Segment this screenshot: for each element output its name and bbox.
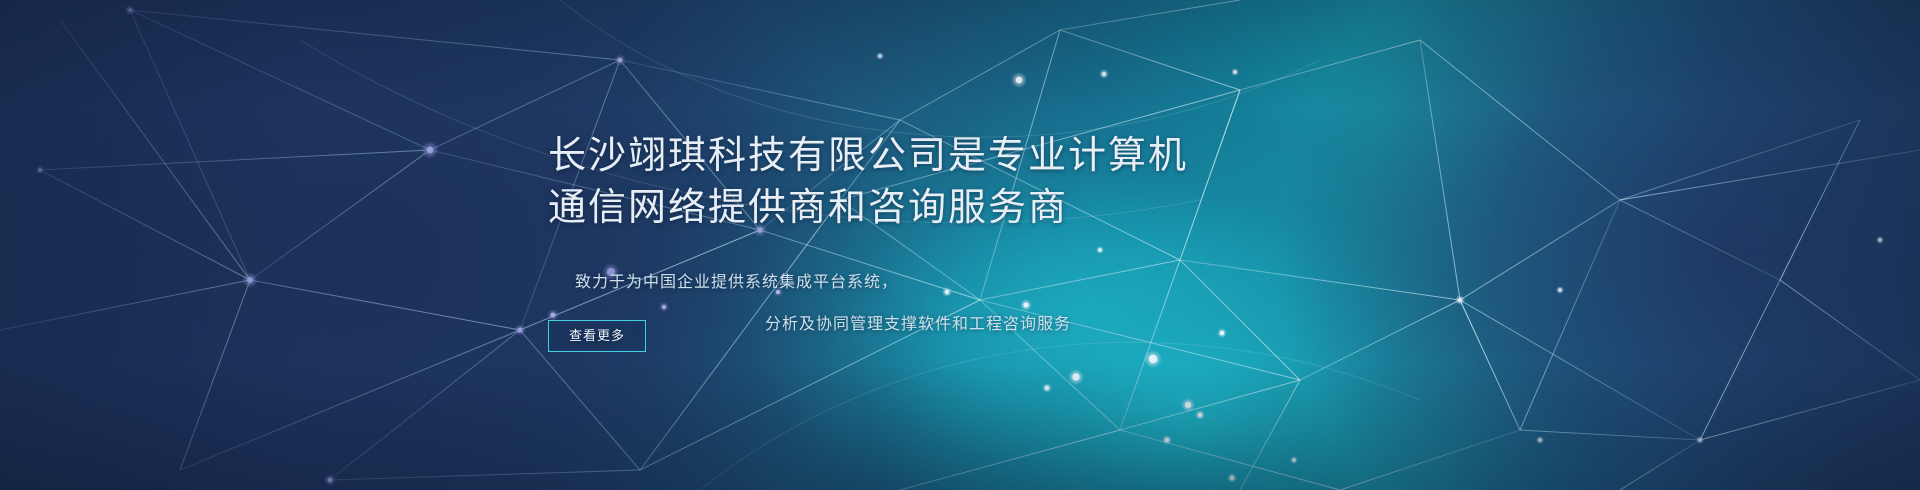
banner-headline: 长沙翊琪科技有限公司是专业计算机 通信网络提供商和咨询服务商	[548, 130, 1188, 234]
banner-content: 长沙翊琪科技有限公司是专业计算机 通信网络提供商和咨询服务商 致力于为中国企业提…	[0, 0, 1920, 490]
view-more-button[interactable]: 查看更多	[548, 320, 646, 352]
headline-line-1: 长沙翊琪科技有限公司是专业计算机	[548, 130, 1188, 182]
subtext-line-1: 致力于为中国企业提供系统集成平台系统，	[575, 262, 1071, 304]
hero-banner: 长沙翊琪科技有限公司是专业计算机 通信网络提供商和咨询服务商 致力于为中国企业提…	[0, 0, 1920, 490]
subtext-line-2: 分析及协同管理支撑软件和工程咨询服务	[575, 304, 1071, 346]
headline-line-2: 通信网络提供商和咨询服务商	[548, 182, 1188, 234]
banner-subtext: 致力于为中国企业提供系统集成平台系统， 分析及协同管理支撑软件和工程咨询服务	[575, 262, 1071, 346]
